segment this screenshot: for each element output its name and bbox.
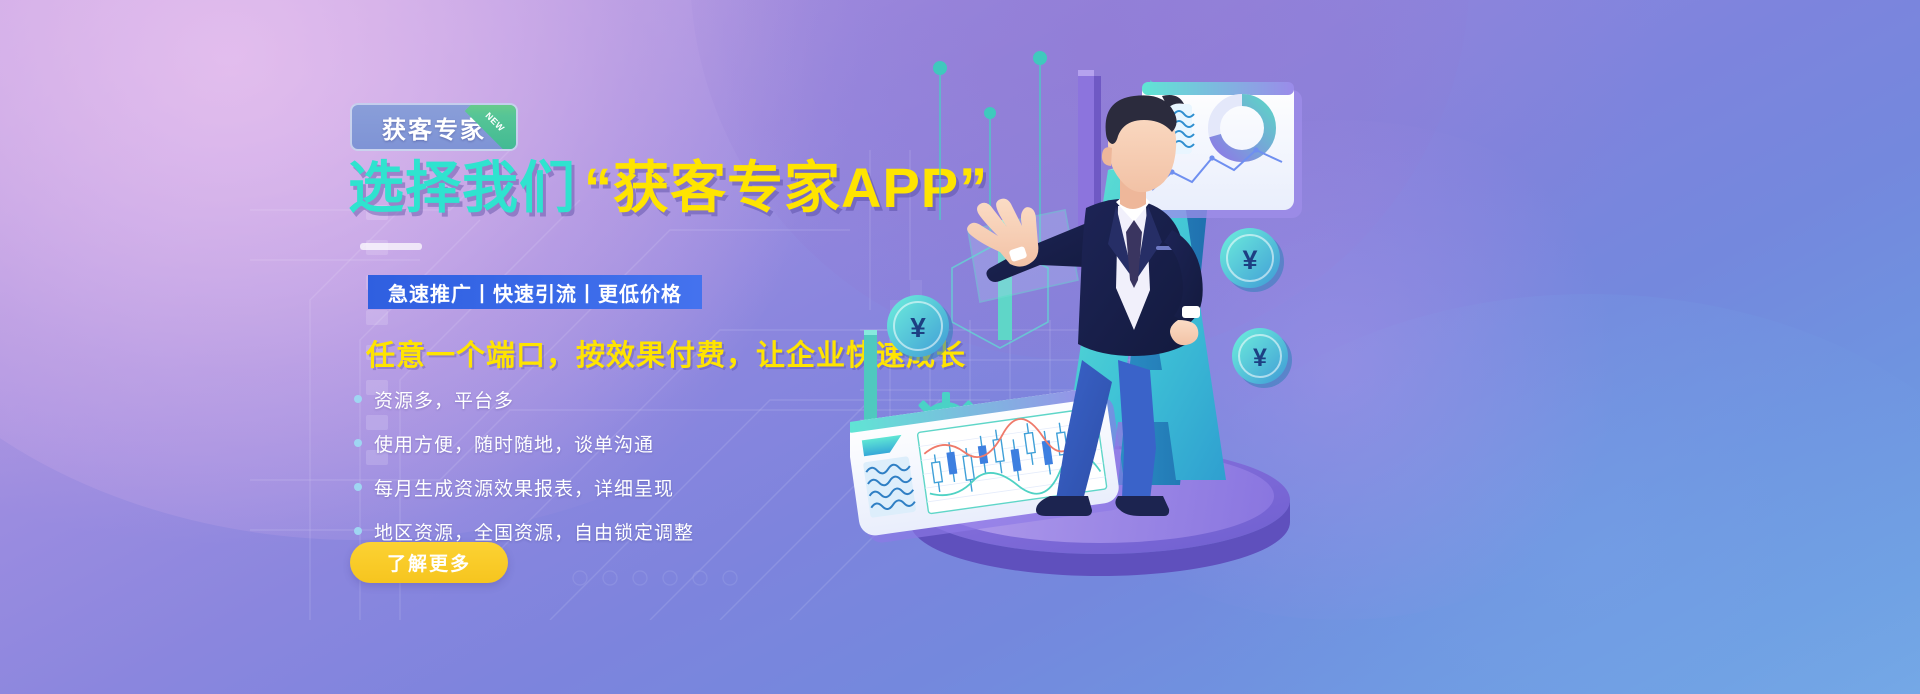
list-item: 使用方便，随时随地，谈单沟通 bbox=[354, 426, 694, 460]
svg-text:¥: ¥ bbox=[1253, 344, 1267, 372]
product-badge: 获客专家 NEW bbox=[350, 103, 518, 151]
list-item-label: 资源多，平台多 bbox=[374, 386, 514, 413]
bullet-dot-icon bbox=[354, 395, 362, 403]
coin-yen-right-bottom: ¥ bbox=[1232, 328, 1292, 388]
headline-underline-rule bbox=[360, 243, 422, 250]
bullet-dot-icon bbox=[354, 439, 362, 447]
hero-illustration: ¥ ¥ ¥ bbox=[850, 30, 1330, 650]
hero-illustration-svg: ¥ ¥ ¥ bbox=[850, 30, 1330, 650]
bullet-dot-icon bbox=[354, 527, 362, 535]
learn-more-button[interactable]: 了解更多 bbox=[350, 542, 508, 583]
promo-banner: 获客专家 NEW 选择我们“获客专家APP” 急速推广丨快速引流丨更低价格 任意… bbox=[0, 0, 1920, 694]
svg-text:¥: ¥ bbox=[1242, 245, 1257, 275]
bullet-dot-icon bbox=[354, 483, 362, 491]
list-item-label: 每月生成资源效果报表，详细呈现 bbox=[374, 474, 674, 501]
headline-primary: 选择我们 bbox=[348, 156, 576, 219]
feature-strip-label: 急速推广丨快速引流丨更低价格 bbox=[388, 278, 682, 307]
list-item: 每月生成资源效果报表，详细呈现 bbox=[354, 470, 694, 504]
feature-strip: 急速推广丨快速引流丨更低价格 bbox=[368, 275, 702, 309]
feature-list: 资源多，平台多 使用方便，随时随地，谈单沟通 每月生成资源效果报表，详细呈现 地… bbox=[354, 382, 694, 558]
list-item: 资源多，平台多 bbox=[354, 382, 694, 416]
list-item-label: 使用方便，随时随地，谈单沟通 bbox=[374, 430, 654, 457]
coin-yen-left: ¥ bbox=[887, 295, 953, 361]
svg-text:¥: ¥ bbox=[910, 312, 926, 343]
list-item-label: 地区资源，全国资源，自由锁定调整 bbox=[374, 518, 694, 545]
coin-yen-right-top: ¥ bbox=[1220, 228, 1284, 292]
